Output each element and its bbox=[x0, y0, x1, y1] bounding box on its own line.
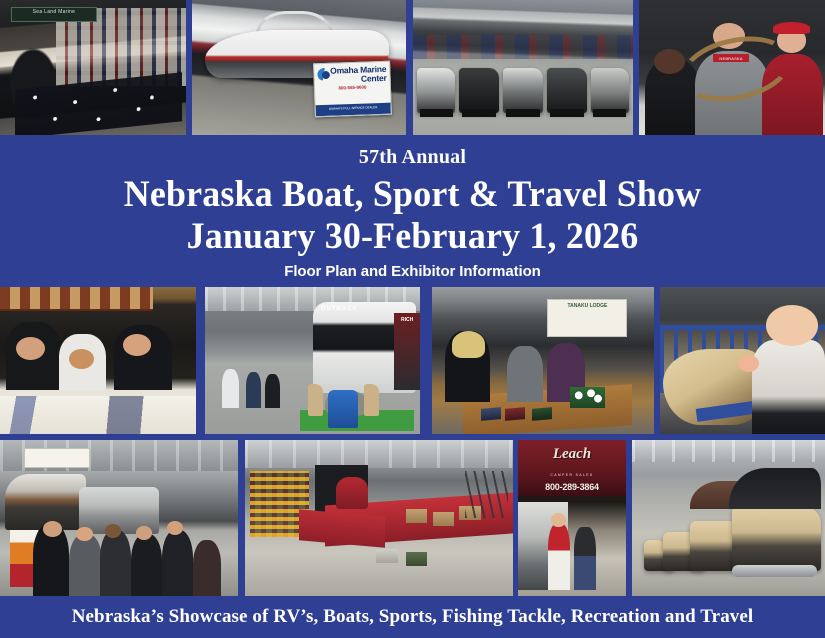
aisle-walker-1 bbox=[222, 369, 239, 407]
sales-table-head-right bbox=[123, 334, 150, 356]
rich-and-sons-banner: RICH bbox=[394, 313, 420, 389]
white-flower-arrangement bbox=[570, 387, 606, 408]
toddler-hand bbox=[738, 355, 759, 373]
brochure-3 bbox=[532, 407, 552, 420]
leach-staff-person bbox=[548, 524, 570, 590]
merchandise-box-4 bbox=[376, 549, 397, 563]
leach-sign-phone: 800-289-3864 bbox=[520, 482, 624, 492]
rv-crowd-head-1 bbox=[43, 521, 62, 537]
rv-crowd-person-5 bbox=[162, 530, 193, 596]
golf-cart-photo bbox=[413, 0, 633, 135]
rv-crowd-person-2 bbox=[69, 534, 102, 596]
sales-table-brochures bbox=[0, 396, 196, 434]
event-dates: January 30-February 1, 2026 bbox=[12, 217, 812, 257]
page-subtitle: Floor Plan and Exhibitor Information bbox=[0, 257, 825, 281]
leach-staff-head bbox=[551, 513, 565, 527]
boat-display-photo: Omaha Marine Center 800-555-9600 OMAHA'S… bbox=[192, 0, 406, 135]
snake-photo: NEBRASKA bbox=[639, 0, 825, 135]
brochure-visitor-middle bbox=[507, 346, 543, 402]
vendor-hall-ceiling bbox=[245, 440, 513, 468]
rv-dealer-sign-text bbox=[25, 449, 90, 456]
rv-crowd-photo bbox=[0, 440, 238, 596]
annual-kicker: 57th Annual bbox=[0, 135, 825, 167]
omaha-marine-sign-phone: 800-555-9600 bbox=[315, 84, 390, 92]
omaha-marine-center-sign: Omaha Marine Center 800-555-9600 OMAHA'S… bbox=[313, 61, 392, 118]
blue-water-tarp bbox=[328, 390, 358, 428]
red-mannequin-display bbox=[336, 477, 368, 508]
craft-booth-photo: Sea Land Marine bbox=[0, 0, 186, 135]
footer-block: Nebraska’s Showcase of RV’s, Boats, Spor… bbox=[0, 596, 825, 638]
leach-visitor-person bbox=[574, 527, 596, 589]
omaha-marine-sign-footer: OMAHA'S FULL SERVICE DEALER bbox=[315, 102, 390, 116]
merchandise-box-1 bbox=[406, 509, 427, 523]
deer-decoy-2 bbox=[364, 384, 379, 416]
golf-cart-1 bbox=[417, 68, 454, 114]
snake-photo-red-cap bbox=[773, 22, 810, 34]
golf-cart-5 bbox=[591, 68, 628, 114]
rv-aisle-photo: OUTBACK RICH bbox=[205, 287, 420, 434]
pontoon-boats-photo bbox=[632, 440, 825, 596]
golf-cart-4 bbox=[547, 68, 587, 114]
booth-awning bbox=[0, 287, 153, 311]
rv-crowd-person-4 bbox=[131, 534, 162, 596]
fishing-rod-rack bbox=[465, 471, 508, 518]
brochure-2 bbox=[505, 407, 525, 420]
rv-dealer-hanging-sign bbox=[24, 448, 91, 468]
rv-crowd-person-6 bbox=[193, 540, 222, 596]
aisle-walker-3 bbox=[265, 374, 280, 408]
leach-camper-photo: Leach CAMPER SALES 800-289-3864 bbox=[518, 440, 626, 596]
merchandise-box-2 bbox=[433, 512, 454, 526]
footer-tagline: Nebraska’s Showcase of RV’s, Boats, Spor… bbox=[72, 606, 754, 628]
leach-sign-subtitle: CAMPER SALES bbox=[533, 473, 611, 477]
aisle-walker-2 bbox=[246, 372, 261, 407]
brochure-1 bbox=[481, 407, 501, 420]
golf-cart-2 bbox=[459, 68, 499, 114]
rv-crowd-person-3 bbox=[100, 530, 131, 596]
vendor-tables-photo bbox=[245, 440, 513, 596]
leach-sign-name: Leach bbox=[529, 446, 615, 463]
rv-crowd-head-4 bbox=[136, 526, 153, 540]
photo-row-top: Sea Land Marine Omaha Marine Center 800-… bbox=[0, 0, 825, 135]
golf-cart-3 bbox=[503, 68, 543, 114]
page-title: Nebraska Boat, Sport & Travel Show bbox=[12, 167, 812, 217]
golf-cart-booth-backwall bbox=[413, 35, 633, 59]
flyer-page: Sea Land Marine Omaha Marine Center 800-… bbox=[0, 0, 825, 638]
photo-row-bottom: Leach CAMPER SALES 800-289-3864 bbox=[0, 440, 825, 596]
toddler-head bbox=[766, 305, 819, 346]
photo-row-middle: OUTBACK RICH TANAKU LODGE bbox=[0, 287, 825, 434]
sales-table-photo bbox=[0, 287, 196, 434]
title-block: 57th Annual Nebraska Boat, Sport & Trave… bbox=[0, 135, 825, 287]
merchandise-box-5 bbox=[406, 552, 427, 566]
nebraska-shirt-logo: NEBRASKA bbox=[713, 54, 748, 62]
toddler-body bbox=[752, 340, 825, 434]
brochure-visitor-hair bbox=[452, 331, 485, 357]
petting-zoo-photo bbox=[660, 287, 825, 434]
pontoon-boat-1 bbox=[732, 506, 821, 572]
sea-land-marine-sign: Sea Land Marine bbox=[11, 7, 97, 22]
vendor-brochure-photo: TANAKU LODGE bbox=[432, 287, 654, 434]
outback-brand-label: OUTBACK bbox=[321, 306, 358, 312]
tanaku-lodge-sign: TANAKU LODGE bbox=[547, 299, 627, 337]
deer-decoy-1 bbox=[308, 384, 323, 416]
boat-hall-ceiling bbox=[632, 440, 825, 462]
pontoon-tube bbox=[732, 565, 817, 577]
